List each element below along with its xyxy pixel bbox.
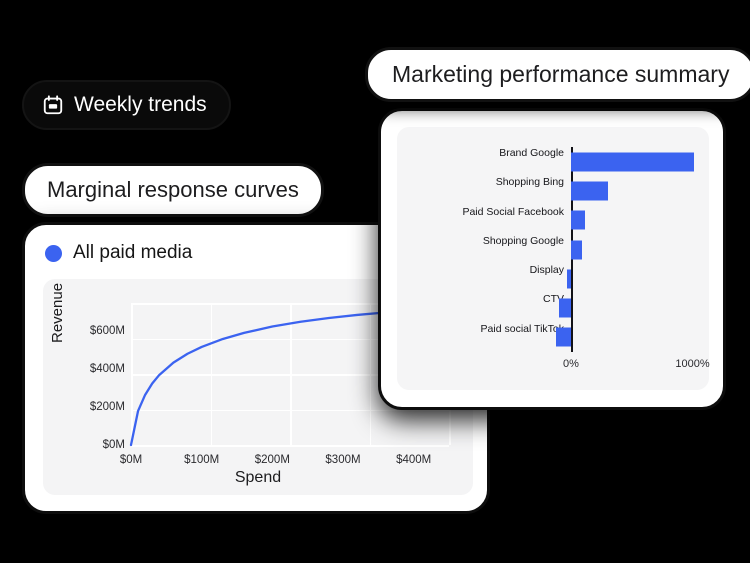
- marginal-response-curves-pill[interactable]: Marginal response curves: [22, 163, 324, 217]
- bar-axis-tick-label: 0%: [563, 358, 579, 370]
- marginal-response-curves-label: Marginal response curves: [47, 177, 299, 203]
- y-tick-label: $200M: [90, 401, 125, 413]
- y-axis-title: Revenue: [49, 283, 66, 343]
- x-tick-label: $0M: [120, 454, 142, 466]
- weekly-trends-pill[interactable]: Weekly trends: [22, 80, 231, 130]
- screenshot-stage: All paid media Revenue Spend $0: [0, 0, 750, 563]
- bar-row[interactable]: Display: [407, 264, 699, 293]
- legend-color-dot: [45, 245, 62, 262]
- calendar-icon: [42, 94, 64, 116]
- bar-chart-panel: Brand GoogleShopping BingPaid Social Fac…: [397, 127, 709, 390]
- bar-row[interactable]: CTV: [407, 293, 699, 322]
- bar[interactable]: [559, 299, 571, 318]
- bar-row[interactable]: Brand Google: [407, 147, 699, 176]
- marketing-performance-summary-pill[interactable]: Marketing performance summary: [365, 47, 750, 102]
- x-axis-title: Spend: [43, 469, 473, 487]
- bar[interactable]: [571, 181, 608, 200]
- marketing-performance-summary-card: Brand GoogleShopping BingPaid Social Fac…: [378, 108, 726, 410]
- bar-axis-tick-label: 1000%: [675, 358, 709, 370]
- weekly-trends-label: Weekly trends: [74, 93, 207, 117]
- x-tick-label: $200M: [255, 454, 290, 466]
- bar[interactable]: [567, 269, 571, 288]
- x-tick-label: $400M: [396, 454, 431, 466]
- bar-rows: Brand GoogleShopping BingPaid Social Fac…: [407, 147, 699, 352]
- bar[interactable]: [571, 152, 694, 171]
- bar-category-label: Paid social TikTok: [481, 323, 564, 335]
- bar-plot-area: Brand GoogleShopping BingPaid Social Fac…: [407, 147, 699, 352]
- bar-category-label: Display: [530, 264, 564, 276]
- bar-category-label: Paid Social Facebook: [462, 206, 564, 218]
- bar[interactable]: [571, 240, 582, 259]
- bar-category-label: Shopping Bing: [496, 176, 564, 188]
- bar-row[interactable]: Shopping Bing: [407, 176, 699, 205]
- x-tick-label: $300M: [325, 454, 360, 466]
- bar-row[interactable]: Paid social TikTok: [407, 323, 699, 352]
- y-tick-label: $400M: [90, 363, 125, 375]
- bar[interactable]: [571, 211, 585, 230]
- bar[interactable]: [556, 328, 571, 347]
- bar-category-label: Shopping Google: [483, 235, 564, 247]
- legend-label: All paid media: [73, 242, 192, 264]
- gridline-h: [131, 445, 449, 447]
- y-tick-label: $600M: [90, 325, 125, 337]
- bar-row[interactable]: Paid Social Facebook: [407, 206, 699, 235]
- marketing-performance-summary-label: Marketing performance summary: [392, 61, 729, 88]
- y-tick-label: $0M: [103, 439, 125, 451]
- bar-row[interactable]: Shopping Google: [407, 235, 699, 264]
- bar-category-label: Brand Google: [499, 147, 564, 159]
- x-tick-label: $100M: [184, 454, 219, 466]
